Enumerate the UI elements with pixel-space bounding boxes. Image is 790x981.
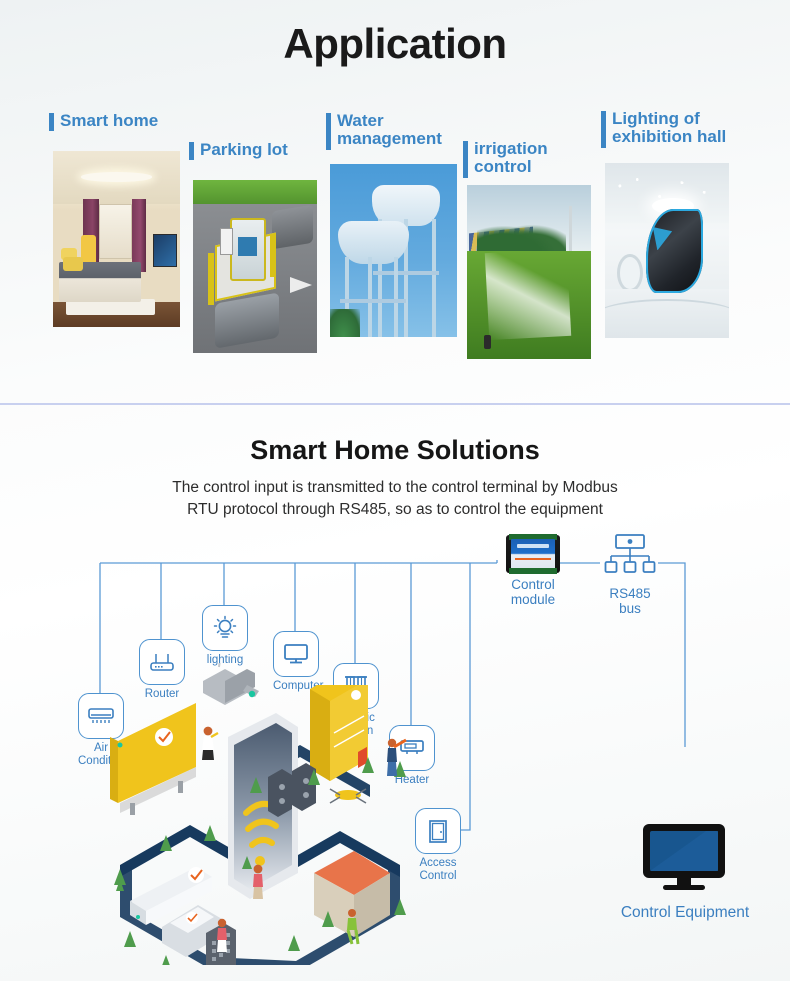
smart-home-thumbnail — [53, 151, 180, 327]
page-title: Application — [0, 20, 790, 68]
control-module-label: Control module — [497, 577, 569, 607]
application-card-label: Smart home — [49, 112, 158, 130]
application-card-water-management[interactable]: Water management — [326, 112, 456, 327]
application-section: Application Smart home Parking lot — [0, 0, 790, 403]
application-card-label: Parking lot — [189, 141, 288, 159]
control-equipment-node[interactable]: Control Equipment — [592, 819, 778, 922]
application-card-smart-home[interactable]: Smart home — [49, 112, 179, 327]
exhibition-hall-thumbnail — [605, 163, 729, 338]
irrigation-control-thumbnail — [467, 185, 591, 359]
water-management-thumbnail — [330, 164, 457, 337]
application-card-parking-lot[interactable]: Parking lot — [189, 141, 317, 356]
smart-home-isometric-illustration — [100, 685, 440, 965]
router-icon — [139, 639, 185, 685]
device-node-computer[interactable]: Computer — [273, 631, 319, 693]
monitor-icon — [273, 631, 319, 677]
device-node-lighting[interactable]: lighting — [202, 605, 248, 667]
rs485-bus-label: RS485 bus — [600, 586, 660, 616]
rs485-bus-node[interactable]: RS485 bus — [600, 533, 660, 616]
application-card-label: Water management — [326, 112, 442, 149]
application-card-label: irrigation control — [463, 140, 548, 177]
smart-home-solutions-section: Smart Home Solutions The control input i… — [0, 405, 790, 981]
network-bus-icon — [602, 533, 658, 577]
control-module-node[interactable]: Control module — [497, 535, 569, 607]
control-module-photo — [506, 535, 560, 573]
application-card-exhibition-lighting[interactable]: Lighting of exhibition hall — [601, 110, 741, 330]
parking-lot-thumbnail — [193, 180, 317, 353]
monitor-filled-icon — [637, 819, 733, 893]
application-card-label: Lighting of exhibition hall — [601, 110, 726, 147]
control-equipment-label: Control Equipment — [592, 904, 778, 922]
page-root: Application Smart home Parking lot — [0, 0, 790, 981]
security-camera-icon — [195, 663, 265, 723]
light-bulb-icon — [202, 605, 248, 651]
application-card-irrigation-control[interactable]: irrigation control — [463, 140, 591, 355]
